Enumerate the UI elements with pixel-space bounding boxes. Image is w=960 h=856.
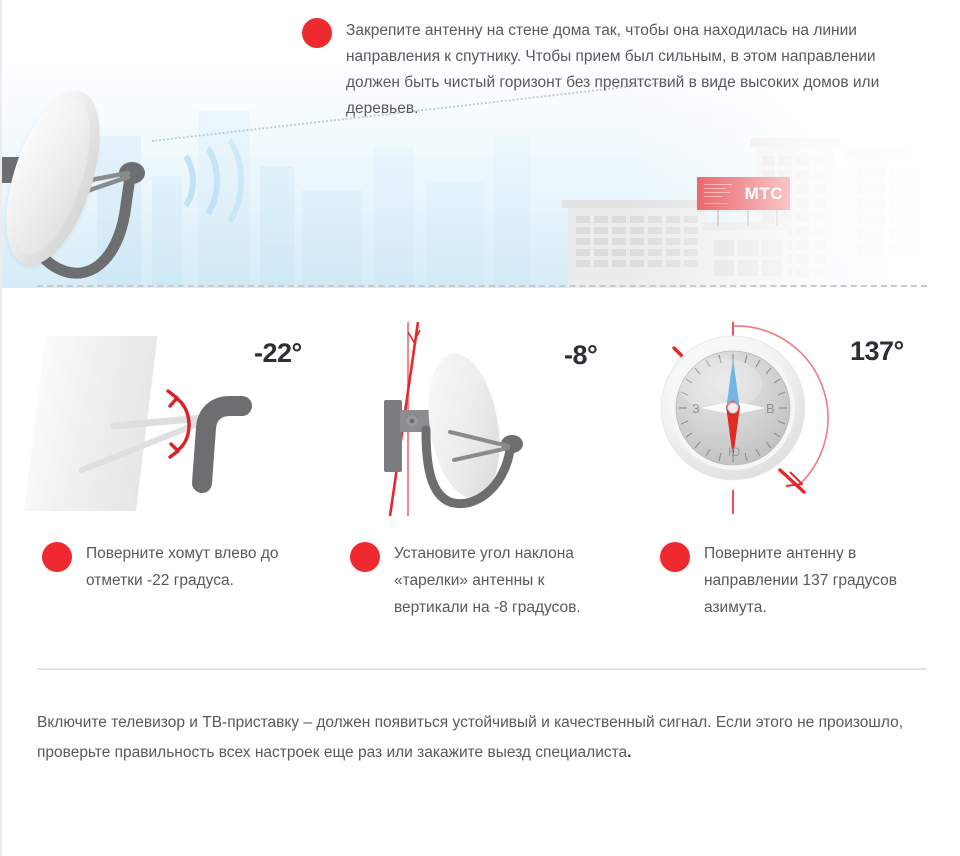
satellite-dish-illustration [2, 85, 302, 285]
skyline-silhouette [494, 136, 530, 286]
intro-text: Закрепите антенну на стене дома так, что… [346, 18, 917, 122]
step-1: -22° Поверните хомут влево до отметки -2… [24, 318, 334, 648]
step-2: -8° Установите угол наклона «тарелки» ан… [342, 318, 652, 648]
angle-label-step-1: -22° [254, 338, 302, 369]
red-bullet-icon [660, 542, 690, 572]
clamp-rotate-figure: -22° [24, 318, 334, 518]
red-bullet-icon [42, 542, 72, 572]
step-1-caption: Поверните хомут влево до отметки -22 гра… [42, 540, 306, 594]
angle-label-step-2: -8° [564, 340, 597, 371]
hero-section: МТС Закрепите антенну на стене дома так,… [2, 0, 960, 292]
intro-block: Закрепите антенну на стене дома так, что… [302, 18, 917, 122]
dish-tilt-svg [342, 318, 652, 518]
skyline-silhouette [426, 182, 484, 286]
step-3-caption: Поверните антенну в направлении 137 град… [660, 540, 924, 621]
compass-east-label: В [766, 401, 775, 416]
compass-south-label: Ю [728, 445, 740, 459]
compass-svg: З В Ю [652, 318, 960, 518]
dish-tilt-figure: -8° [342, 318, 652, 518]
infographic-page: МТС Закрепите антенну на стене дома так,… [0, 0, 960, 856]
step-3: З В Ю 137° Поверните антенну в направлен… [652, 318, 960, 648]
outro-period: . [627, 744, 631, 761]
red-bullet-icon [302, 18, 332, 48]
dashed-divider [37, 285, 927, 287]
angle-label-step-3: 137° [850, 336, 904, 367]
steps-section: -22° Поверните хомут влево до отметки -2… [2, 318, 960, 648]
section-divider [37, 668, 927, 670]
outro-text: Включите телевизор и ТВ-приставку – долж… [37, 714, 903, 761]
step-1-caption-text: Поверните хомут влево до отметки -22 гра… [86, 540, 306, 594]
red-bullet-icon [350, 542, 380, 572]
step-3-caption-text: Поверните антенну в направлении 137 град… [704, 540, 924, 621]
step-2-caption-text: Установите угол наклона «тарелки» антенн… [394, 540, 614, 621]
outro-paragraph: Включите телевизор и ТВ-приставку – долж… [37, 708, 927, 768]
skyline-silhouette [302, 190, 362, 286]
step-2-caption: Установите угол наклона «тарелки» антенн… [350, 540, 614, 621]
skyline-silhouette [374, 148, 414, 286]
compass-figure: З В Ю 137° [652, 318, 960, 518]
